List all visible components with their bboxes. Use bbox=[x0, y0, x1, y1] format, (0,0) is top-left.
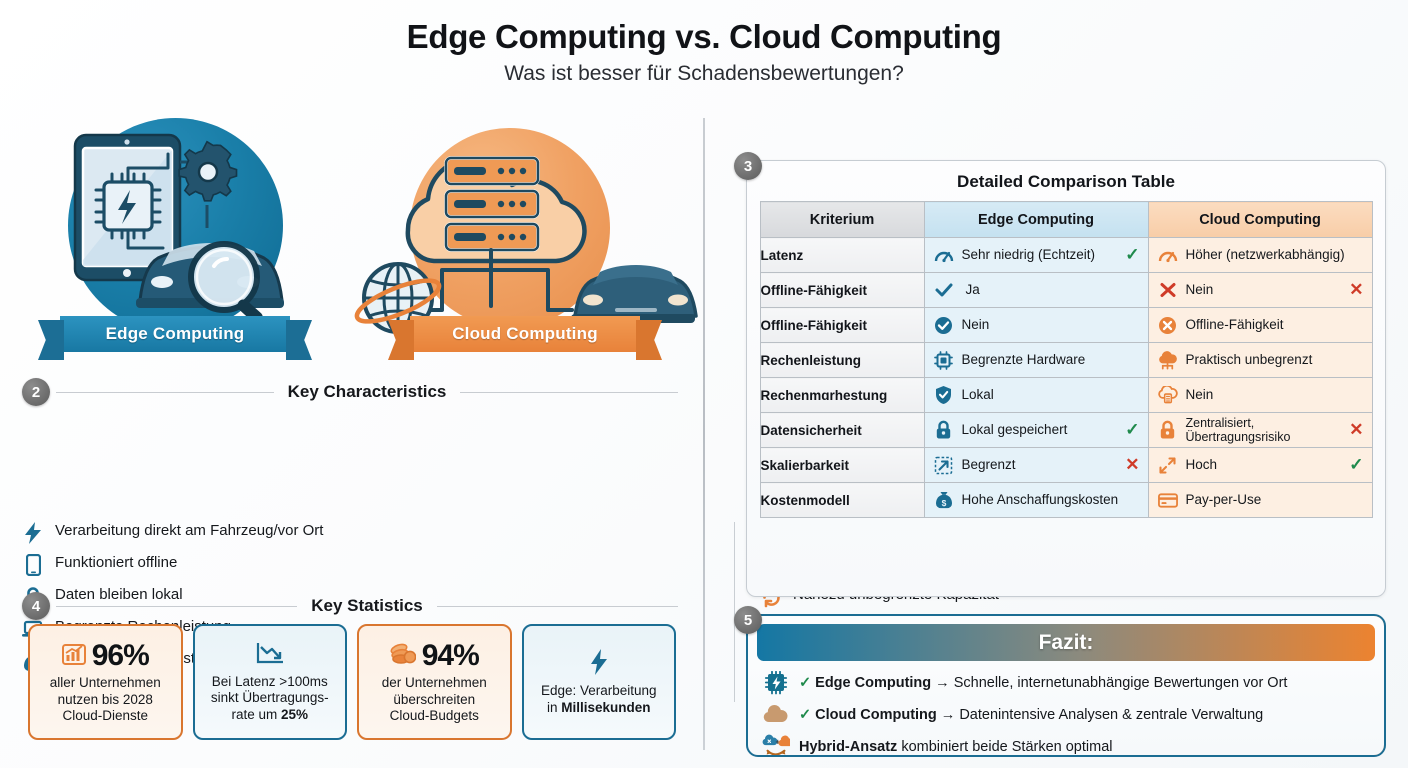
money-bag-icon: $ bbox=[934, 490, 954, 510]
cell-cloud: Höher (netzwerkabhängig) bbox=[1148, 238, 1372, 273]
lightning-bolt-icon bbox=[589, 648, 609, 681]
conclusion-list: ✓Edge Computing → Schnelle, internetunab… bbox=[748, 661, 1384, 757]
cell-edge: Nein bbox=[924, 308, 1148, 343]
table-row: Kostenmodell $ Hohe Anschaffungskosten bbox=[760, 483, 1372, 518]
check-icon: ✓ bbox=[1122, 245, 1140, 265]
description: → Datenintensive Analysen & zentrale Ver… bbox=[937, 707, 1263, 723]
comparison-table-title: Detailed Comparison Table bbox=[747, 161, 1385, 201]
cell-edge: Lokal bbox=[924, 378, 1148, 413]
edge-illustration: Edge Computing bbox=[0, 110, 350, 360]
description: kombiniert beide Stärken optimal bbox=[897, 739, 1112, 755]
cell-text: Nein bbox=[1186, 283, 1338, 298]
table-row: Datensicherheit Lokal gespeichert ✓ bbox=[760, 413, 1372, 448]
list-item-label: Verarbeitung direkt am Fahrzeug/vor Ort bbox=[55, 522, 323, 540]
table-row: Latenz Sehr niedrig (Echtzeit) ✓ bbox=[760, 238, 1372, 273]
cell-edge: Begrenzte Hardware bbox=[924, 343, 1148, 378]
right-column: 3 Detailed Comparison Table Kriterium Ed… bbox=[712, 110, 1402, 760]
chart-decline-icon bbox=[255, 641, 285, 672]
list-item: + Hybrid-Ansatz kombiniert beide Stärken… bbox=[762, 734, 1384, 757]
cell-edge: Lokal gespeichert ✓ bbox=[924, 413, 1148, 448]
stat-highlight: 25% bbox=[281, 707, 308, 722]
cloud-network-icon bbox=[1158, 350, 1178, 370]
lightning-bolt-icon bbox=[22, 522, 44, 544]
stat-line: Edge: Verarbeitung bbox=[541, 683, 657, 698]
description: → Schnelle, internetunabhängige Bewertun… bbox=[931, 675, 1287, 691]
stat-line: Cloud-Budgets bbox=[390, 708, 479, 723]
shield-check-icon bbox=[934, 385, 954, 405]
cell-cloud: Offline-Fähigkeit bbox=[1148, 308, 1372, 343]
cell-text: Hohe Anschaffungskosten bbox=[962, 493, 1140, 508]
list-item: ✓Cloud Computing → Datenintensive Analys… bbox=[762, 702, 1384, 728]
stat-top: 94% bbox=[390, 639, 479, 673]
list-item: Funktioniert offline bbox=[22, 554, 350, 576]
cell-cloud: Pay-per-Use bbox=[1148, 483, 1372, 518]
table-row: Rechenleistung Begrenzte Hardware bbox=[760, 343, 1372, 378]
section-badge-5: 5 bbox=[734, 606, 762, 634]
stat-value: 96% bbox=[92, 639, 149, 673]
hybrid-clouds-icon: + bbox=[762, 734, 790, 757]
cross-icon bbox=[1158, 280, 1178, 300]
cell-cloud: Zentralisiert, Übertragungsrisiko ✕ bbox=[1148, 413, 1372, 448]
conclusion-heading: Fazit: bbox=[757, 624, 1375, 661]
cell-text: Praktisch unbegrenzt bbox=[1186, 353, 1364, 368]
stat-card: 96% aller Unternehmen nutzen bis 2028 Cl… bbox=[28, 624, 183, 740]
stat-value: 94% bbox=[422, 639, 479, 673]
rule-left bbox=[56, 606, 297, 607]
stat-line: Bei Latenz >100ms bbox=[212, 674, 328, 689]
chart-growth-icon bbox=[62, 642, 86, 671]
gauge-icon bbox=[1158, 245, 1178, 265]
cell-criterion: Datensicherheit bbox=[760, 413, 924, 448]
cell-cloud: Praktisch unbegrenzt bbox=[1148, 343, 1372, 378]
cloud-tan-icon bbox=[762, 702, 790, 728]
column-header-edge: Edge Computing bbox=[924, 202, 1148, 238]
cell-criterion: Offline-Fähigkeit bbox=[760, 308, 924, 343]
credit-card-icon bbox=[1158, 490, 1178, 510]
table-row: Skalierbarkeit Begrenzt ✕ bbox=[760, 448, 1372, 483]
cell-text: Nein bbox=[1186, 388, 1364, 403]
stat-line: überschreiten bbox=[393, 692, 475, 707]
check-icon: ✓ bbox=[799, 707, 811, 723]
cell-text: Pay-per-Use bbox=[1186, 493, 1364, 508]
column-divider bbox=[703, 118, 705, 750]
cpu-bolt-icon bbox=[762, 670, 790, 696]
stat-line: Cloud-Dienste bbox=[62, 708, 148, 723]
cell-criterion: Rechenleistung bbox=[760, 343, 924, 378]
table-row: Offline-Fähigkeit Ja bbox=[760, 273, 1372, 308]
cell-text: Hoch bbox=[1186, 458, 1338, 473]
stat-card: 94% der Unternehmen überschreiten Cloud-… bbox=[357, 624, 512, 740]
stat-top bbox=[589, 648, 609, 681]
lock-icon bbox=[934, 420, 954, 440]
cell-edge: Sehr niedrig (Echtzeit) ✓ bbox=[924, 238, 1148, 273]
edge-ribbon-label: Edge Computing bbox=[60, 316, 290, 352]
rule-right bbox=[460, 392, 678, 393]
cell-text: Zentralisiert, Übertragungsrisiko bbox=[1186, 416, 1338, 444]
cell-text: Ja bbox=[962, 283, 1140, 298]
cross-icon: ✕ bbox=[1346, 420, 1364, 440]
cloud-ribbon-label: Cloud Computing bbox=[410, 316, 640, 352]
comparison-table: Kriterium Edge Computing Cloud Computing… bbox=[760, 201, 1373, 518]
lock-icon bbox=[1158, 420, 1178, 440]
cell-criterion: Kostenmodell bbox=[760, 483, 924, 518]
term: Hybrid-Ansatz bbox=[799, 739, 897, 755]
cell-edge: Begrenzt ✕ bbox=[924, 448, 1148, 483]
list-item: ✓Edge Computing → Schnelle, internetunab… bbox=[762, 670, 1384, 696]
stat-label: der Unternehmen überschreiten Cloud-Budg… bbox=[382, 675, 487, 724]
check-icon: ✓ bbox=[1122, 420, 1140, 440]
comparison-table-card: Detailed Comparison Table Kriterium Edge… bbox=[746, 160, 1386, 597]
check-icon bbox=[934, 280, 954, 300]
cell-cloud: Hoch ✓ bbox=[1148, 448, 1372, 483]
money-stack-icon bbox=[390, 642, 416, 671]
stat-line-tail: in Millisekunden bbox=[547, 700, 651, 715]
check-icon: ✓ bbox=[1346, 455, 1364, 475]
page-title: Edge Computing vs. Cloud Computing bbox=[0, 18, 1408, 56]
section-badge-4: 4 bbox=[22, 592, 50, 620]
svg-text:$: $ bbox=[941, 498, 946, 508]
expand-arrows-icon bbox=[1158, 455, 1178, 475]
cell-text: Lokal bbox=[962, 388, 1140, 403]
cell-criterion: Skalierbarkeit bbox=[760, 448, 924, 483]
term: Cloud Computing bbox=[815, 707, 937, 723]
key-statistics-title: Key Statistics bbox=[297, 596, 437, 616]
cell-text: Offline-Fähigkeit bbox=[1186, 318, 1364, 333]
column-header-cloud: Cloud Computing bbox=[1148, 202, 1372, 238]
table-row: Offline-Fähigkeit Nein bbox=[760, 308, 1372, 343]
cross-icon: ✕ bbox=[1346, 280, 1364, 300]
cross-circle-icon bbox=[1158, 315, 1178, 335]
stat-highlight: Millisekunden bbox=[561, 700, 650, 715]
cell-cloud: Nein ✕ bbox=[1148, 273, 1372, 308]
cell-edge: $ Hohe Anschaffungskosten bbox=[924, 483, 1148, 518]
left-column: Edge Computing bbox=[0, 110, 700, 760]
stat-line-tail: rate um 25% bbox=[231, 707, 308, 722]
cell-text: Begrenzte Hardware bbox=[962, 353, 1140, 368]
table-header-row: Kriterium Edge Computing Cloud Computing bbox=[760, 202, 1372, 238]
list-item: Verarbeitung direkt am Fahrzeug/vor Ort bbox=[22, 522, 350, 544]
illustration-row: Edge Computing bbox=[0, 110, 700, 360]
list-item-label: ✓Cloud Computing → Datenintensive Analys… bbox=[799, 707, 1263, 723]
cell-text: Höher (netzwerkabhängig) bbox=[1186, 248, 1364, 263]
gauge-icon bbox=[934, 245, 954, 265]
cloud-illustration: Cloud Computing bbox=[350, 110, 700, 360]
section-badge-2: 2 bbox=[22, 378, 50, 406]
cell-text: Sehr niedrig (Echtzeit) bbox=[962, 248, 1114, 263]
stat-line: sinkt Übertragungs- bbox=[211, 690, 329, 705]
key-statistics-header: 4 Key Statistics bbox=[22, 592, 678, 620]
cell-criterion: Latenz bbox=[760, 238, 924, 273]
rule-left bbox=[56, 392, 274, 393]
key-characteristics-header: 2 Key Characteristics bbox=[22, 378, 678, 406]
stat-label: Bei Latenz >100ms sinkt Übertragungs- ra… bbox=[211, 674, 329, 723]
section-badge-3: 3 bbox=[734, 152, 762, 180]
header: Edge Computing vs. Cloud Computing Was i… bbox=[0, 18, 1408, 86]
stat-card: Bei Latenz >100ms sinkt Übertragungs- ra… bbox=[193, 624, 348, 740]
expand-dashed-icon bbox=[934, 455, 954, 475]
cloud-server-icon bbox=[1158, 385, 1178, 405]
key-statistics-body: 96% aller Unternehmen nutzen bis 2028 Cl… bbox=[28, 624, 676, 740]
cell-text: Nein bbox=[962, 318, 1140, 333]
conclusion-panel: Fazit: ✓Edge Computing → Schnelle, inter… bbox=[746, 614, 1386, 757]
page-subtitle: Was ist besser für Schadensbewertungen? bbox=[0, 62, 1408, 86]
key-characteristics-title: Key Characteristics bbox=[274, 382, 461, 402]
cell-text: Lokal gespeichert bbox=[962, 423, 1114, 438]
check-icon: ✓ bbox=[799, 675, 811, 691]
stat-top: 96% bbox=[62, 639, 149, 673]
smartphone-icon bbox=[22, 554, 44, 576]
column-header-criterion: Kriterium bbox=[760, 202, 924, 238]
stat-label: Edge: Verarbeitung in Millisekunden bbox=[541, 683, 657, 716]
list-item-label: ✓Edge Computing → Schnelle, internetunab… bbox=[799, 675, 1287, 691]
stat-line: aller Unternehmen bbox=[50, 675, 161, 690]
stat-label: aller Unternehmen nutzen bis 2028 Cloud-… bbox=[50, 675, 161, 724]
cpu-chip-icon bbox=[934, 350, 954, 370]
key-characteristics-body: Verarbeitung direkt am Fahrzeug/vor Ort … bbox=[22, 408, 678, 596]
stat-line: nutzen bis 2028 bbox=[58, 692, 153, 707]
cell-edge: Ja bbox=[924, 273, 1148, 308]
infographic-page: Edge Computing vs. Cloud Computing Was i… bbox=[0, 0, 1408, 768]
cell-criterion: Offline-Fähigkeit bbox=[760, 273, 924, 308]
rule-right bbox=[437, 606, 678, 607]
term: Edge Computing bbox=[815, 675, 931, 691]
cell-text: Begrenzt bbox=[962, 458, 1114, 473]
cross-icon: ✕ bbox=[1122, 455, 1140, 475]
stat-top bbox=[255, 641, 285, 672]
table-row: Rechenmɑrhestung Lokal bbox=[760, 378, 1372, 413]
stat-line: der Unternehmen bbox=[382, 675, 487, 690]
list-item-label: Funktioniert offline bbox=[55, 554, 177, 572]
check-circle-icon bbox=[934, 315, 954, 335]
stat-card: Edge: Verarbeitung in Millisekunden bbox=[522, 624, 677, 740]
cell-criterion: Rechenmɑrhestung bbox=[760, 378, 924, 413]
cell-cloud: Nein bbox=[1148, 378, 1372, 413]
list-item-label: Hybrid-Ansatz kombiniert beide Stärken o… bbox=[799, 739, 1113, 755]
